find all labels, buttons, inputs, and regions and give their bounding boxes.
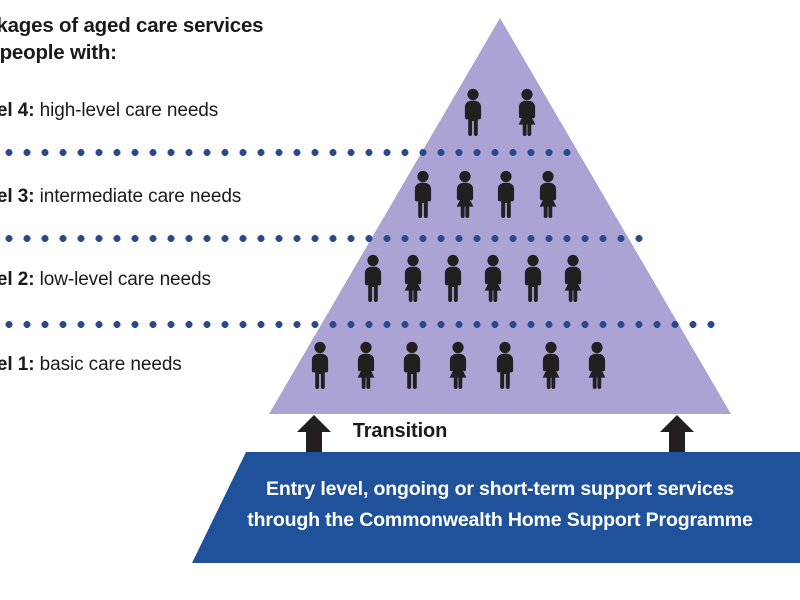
person-male-icon [491, 170, 521, 218]
level-2-description: low-level care needs [40, 269, 211, 290]
banner-text: Entry level, ongoing or short-term suppo… [200, 474, 800, 536]
person-male-icon [397, 341, 427, 389]
tier-divider-4-3 [0, 149, 574, 156]
person-male-icon [458, 88, 488, 136]
person-male-icon [438, 254, 468, 302]
person-male-icon [408, 170, 438, 218]
level-label-1: evel 1: basic care needs [0, 354, 182, 376]
tier-divider-3-2 [0, 235, 645, 242]
level-1-description: basic care needs [40, 354, 182, 375]
level-3-description: intermediate care needs [40, 186, 242, 207]
figure-row-level-2 [358, 254, 588, 302]
tier-divider-2-1 [0, 321, 716, 328]
level-2-name: evel 2: [0, 269, 34, 290]
page-title-line-1: ackages of aged care services [0, 12, 394, 39]
level-1-name: evel 1: [0, 354, 34, 375]
person-female-icon [443, 341, 473, 389]
level-3-name: evel 3: [0, 186, 34, 207]
level-label-3: evel 3: intermediate care needs [0, 186, 241, 208]
person-female-icon [478, 254, 508, 302]
up-arrow-icon-right [660, 415, 694, 453]
person-female-icon [536, 341, 566, 389]
page-title-line-2: or people with: [0, 39, 394, 66]
figure-row-level-3 [408, 170, 563, 218]
person-female-icon [533, 170, 563, 218]
banner-text-line-2: through the Commonwealth Home Support Pr… [200, 505, 800, 536]
person-male-icon [518, 254, 548, 302]
person-male-icon [490, 341, 520, 389]
person-female-icon [582, 341, 612, 389]
person-male-icon [358, 254, 388, 302]
page-title: ackages of aged care services or people … [0, 12, 394, 66]
figure-row-level-1 [305, 341, 612, 389]
person-female-icon [398, 254, 428, 302]
level-label-4: evel 4: high-level care needs [0, 100, 218, 122]
person-female-icon [558, 254, 588, 302]
person-female-icon [351, 341, 381, 389]
banner-text-line-1: Entry level, ongoing or short-term suppo… [200, 474, 800, 505]
infographic-canvas: ackages of aged care services or people … [0, 0, 800, 600]
figure-row-level-4 [458, 88, 542, 136]
person-male-icon [305, 341, 335, 389]
level-4-description: high-level care needs [40, 100, 219, 121]
person-female-icon [450, 170, 480, 218]
level-4-name: evel 4: [0, 100, 34, 121]
person-female-icon [512, 88, 542, 136]
level-label-2: evel 2: low-level care needs [0, 269, 211, 291]
